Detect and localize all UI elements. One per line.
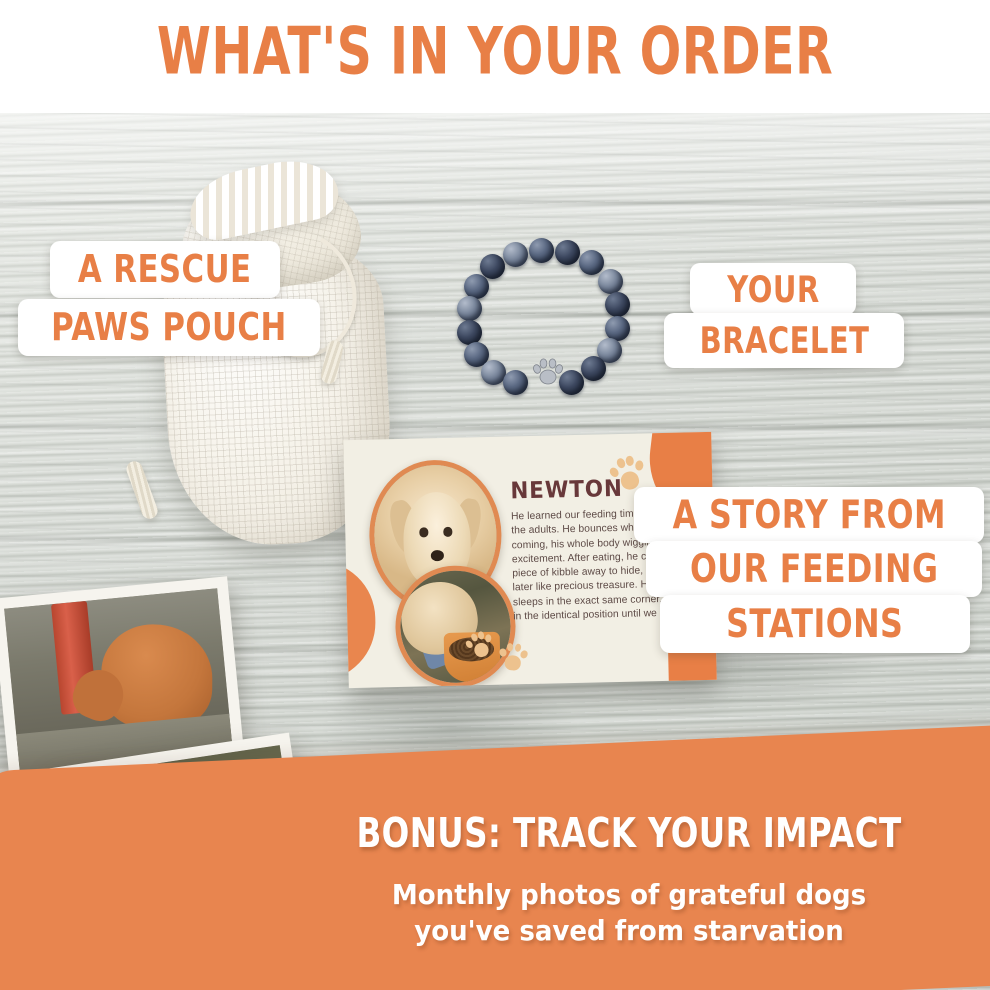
- bracelet-bead: [598, 269, 623, 294]
- header-band: WHAT'S IN YOUR ORDER: [0, 0, 990, 113]
- bracelet-bead: [605, 292, 630, 317]
- callout-pouch-label-2: PAWS POUCH: [51, 306, 287, 350]
- callout-story-line-1: A STORY FROM: [634, 487, 984, 543]
- bonus-subtitle-line-1: Monthly photos of grateful dogs: [293, 877, 964, 913]
- card-side-shape: [343, 560, 376, 681]
- order-contents-infographic: NEWTON He learned our feeding times fast…: [0, 0, 990, 990]
- callout-bracelet-label-2: BRACELET: [699, 319, 869, 362]
- callout-story-line-3: STATIONS: [660, 595, 970, 653]
- card-dog-name: NEWTON: [510, 476, 623, 505]
- callout-story-label-2: OUR FEEDING: [690, 546, 938, 591]
- callout-bracelet-line-2: BRACELET: [664, 313, 904, 368]
- bracelet-bead: [555, 240, 580, 265]
- bracelet-bead: [480, 254, 505, 279]
- callout-bracelet-line-1: YOUR: [690, 263, 856, 315]
- pouch-cord-knot-left: [124, 459, 160, 521]
- bonus-text-block: BONUS: TRACK YOUR IMPACT Monthly photos …: [268, 812, 990, 949]
- callout-story-line-2: OUR FEEDING: [646, 541, 982, 597]
- callout-bracelet-label-1: YOUR: [727, 268, 819, 311]
- silver-paw-charm-icon: [531, 356, 565, 386]
- bracelet-bead: [457, 296, 482, 321]
- paw-charm-bracelet: [455, 238, 630, 398]
- bonus-heading: BONUS: TRACK YOUR IMPACT: [311, 810, 946, 857]
- callout-pouch-line-2: PAWS POUCH: [18, 299, 320, 356]
- callout-pouch-label-1: A RESCUE: [78, 248, 252, 292]
- bracelet-bead: [503, 370, 528, 395]
- paw-print-icon: [497, 641, 529, 673]
- bonus-subtitle-line-2: you've saved from starvation: [293, 913, 964, 949]
- callout-pouch-line-1: A RESCUE: [50, 241, 280, 298]
- callout-story-label-1: A STORY FROM: [672, 492, 945, 537]
- bracelet-bead: [503, 242, 528, 267]
- bracelet-bead: [581, 356, 606, 381]
- page-title: WHAT'S IN YOUR ORDER: [69, 14, 920, 89]
- bracelet-bead: [579, 250, 604, 275]
- bracelet-bead: [529, 238, 554, 263]
- callout-story-label-3: STATIONS: [726, 601, 903, 646]
